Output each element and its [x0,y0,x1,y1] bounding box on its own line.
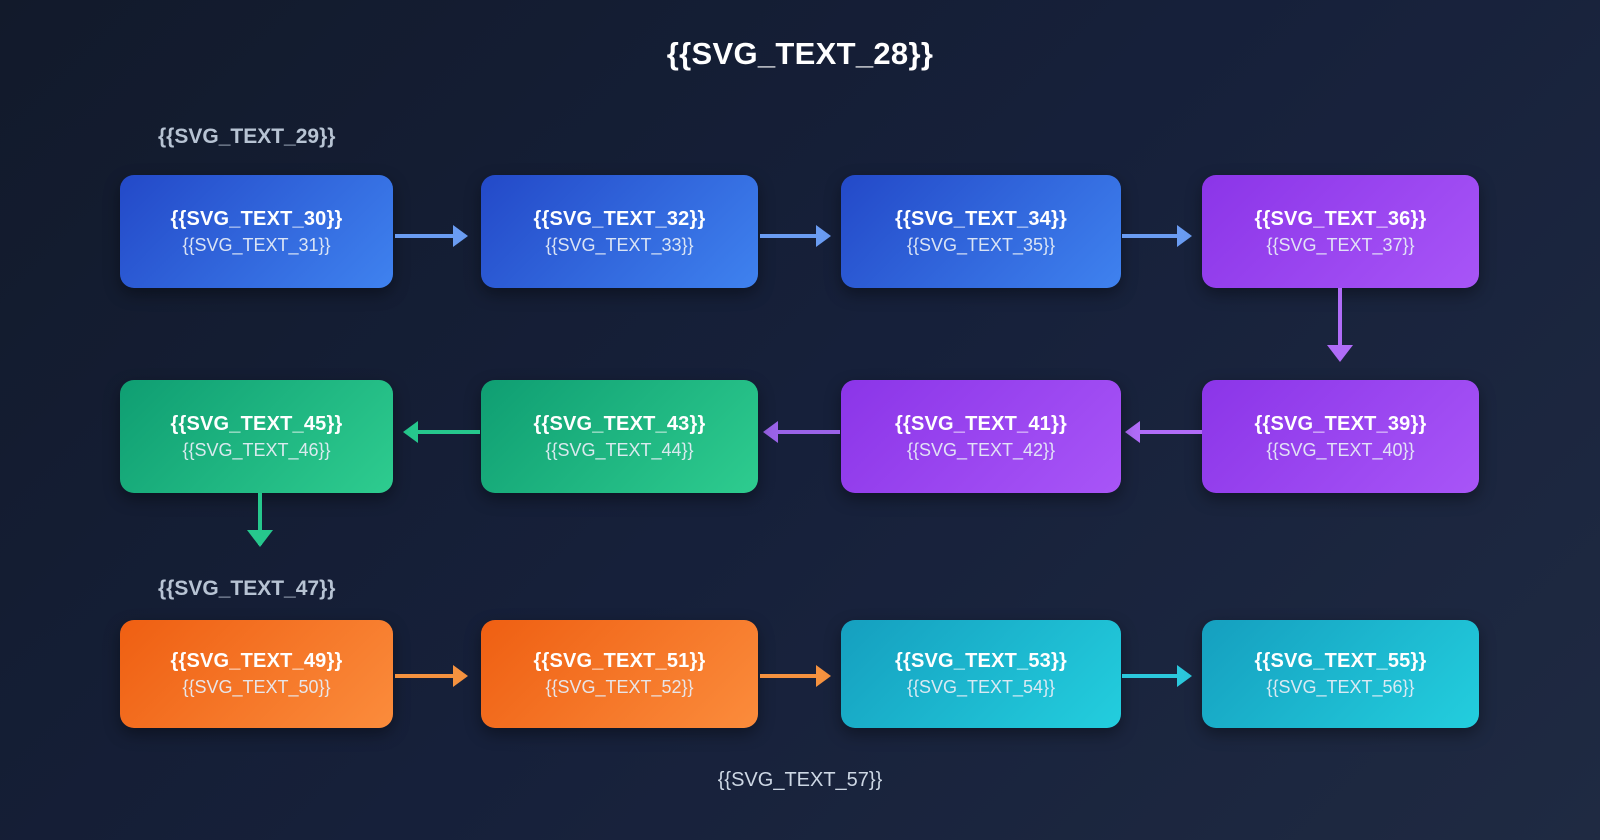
group-label-2: {{SVG_TEXT_47}} [158,577,335,601]
connector-7-8 [418,430,480,434]
node-8[interactable]: {{SVG_TEXT_45}} {{SVG_TEXT_46}} [120,380,393,493]
arrow-7-8-icon [403,421,418,443]
arrow-1-2-icon [453,225,468,247]
arrow-11-12-icon [1177,665,1192,687]
node-2-subtitle: {{SVG_TEXT_33}} [545,236,693,256]
node-10-title: {{SVG_TEXT_51}} [534,650,706,672]
node-8-subtitle: {{SVG_TEXT_46}} [182,441,330,461]
node-4-title: {{SVG_TEXT_36}} [1255,208,1427,230]
node-5-title: {{SVG_TEXT_39}} [1255,413,1427,435]
arrow-9-10-icon [453,665,468,687]
arrow-6-7-icon [763,421,778,443]
node-7-subtitle: {{SVG_TEXT_44}} [545,441,693,461]
node-3-subtitle: {{SVG_TEXT_35}} [907,236,1055,256]
node-10-subtitle: {{SVG_TEXT_52}} [545,678,693,698]
node-6[interactable]: {{SVG_TEXT_41}} {{SVG_TEXT_42}} [841,380,1121,493]
group-label-1: {{SVG_TEXT_29}} [158,125,335,149]
arrow-2-3-icon [816,225,831,247]
node-4-subtitle: {{SVG_TEXT_37}} [1266,236,1414,256]
node-9-title: {{SVG_TEXT_49}} [171,650,343,672]
node-1[interactable]: {{SVG_TEXT_30}} {{SVG_TEXT_31}} [120,175,393,288]
node-7[interactable]: {{SVG_TEXT_43}} {{SVG_TEXT_44}} [481,380,758,493]
node-1-subtitle: {{SVG_TEXT_31}} [182,236,330,256]
connector-5-6 [1140,430,1202,434]
node-5-subtitle: {{SVG_TEXT_40}} [1266,441,1414,461]
node-6-subtitle: {{SVG_TEXT_42}} [907,441,1055,461]
diagram-canvas: {{SVG_TEXT_28}} {{SVG_TEXT_29}} {{SVG_TE… [0,0,1600,840]
node-2-title: {{SVG_TEXT_32}} [534,208,706,230]
node-11-title: {{SVG_TEXT_53}} [895,650,1067,672]
node-8-title: {{SVG_TEXT_45}} [171,413,343,435]
node-12[interactable]: {{SVG_TEXT_55}} {{SVG_TEXT_56}} [1202,620,1479,728]
arrow-5-6-icon [1125,421,1140,443]
connector-6-7 [778,430,840,434]
node-9-subtitle: {{SVG_TEXT_50}} [182,678,330,698]
footer-caption: {{SVG_TEXT_57}} [0,769,1600,792]
node-7-title: {{SVG_TEXT_43}} [534,413,706,435]
node-3[interactable]: {{SVG_TEXT_34}} {{SVG_TEXT_35}} [841,175,1121,288]
node-2[interactable]: {{SVG_TEXT_32}} {{SVG_TEXT_33}} [481,175,758,288]
node-1-title: {{SVG_TEXT_30}} [171,208,343,230]
node-9[interactable]: {{SVG_TEXT_49}} {{SVG_TEXT_50}} [120,620,393,728]
page-title: {{SVG_TEXT_28}} [0,36,1600,72]
node-12-subtitle: {{SVG_TEXT_56}} [1266,678,1414,698]
node-11[interactable]: {{SVG_TEXT_53}} {{SVG_TEXT_54}} [841,620,1121,728]
arrow-10-11-icon [816,665,831,687]
arrow-3-4-icon [1177,225,1192,247]
arrow-8-9-icon [247,530,273,547]
arrow-4-5-icon [1327,345,1353,362]
node-6-title: {{SVG_TEXT_41}} [895,413,1067,435]
node-5[interactable]: {{SVG_TEXT_39}} {{SVG_TEXT_40}} [1202,380,1479,493]
node-3-title: {{SVG_TEXT_34}} [895,208,1067,230]
connector-4-5 [1338,288,1342,350]
node-4[interactable]: {{SVG_TEXT_36}} {{SVG_TEXT_37}} [1202,175,1479,288]
node-10[interactable]: {{SVG_TEXT_51}} {{SVG_TEXT_52}} [481,620,758,728]
node-11-subtitle: {{SVG_TEXT_54}} [907,678,1055,698]
node-12-title: {{SVG_TEXT_55}} [1255,650,1427,672]
